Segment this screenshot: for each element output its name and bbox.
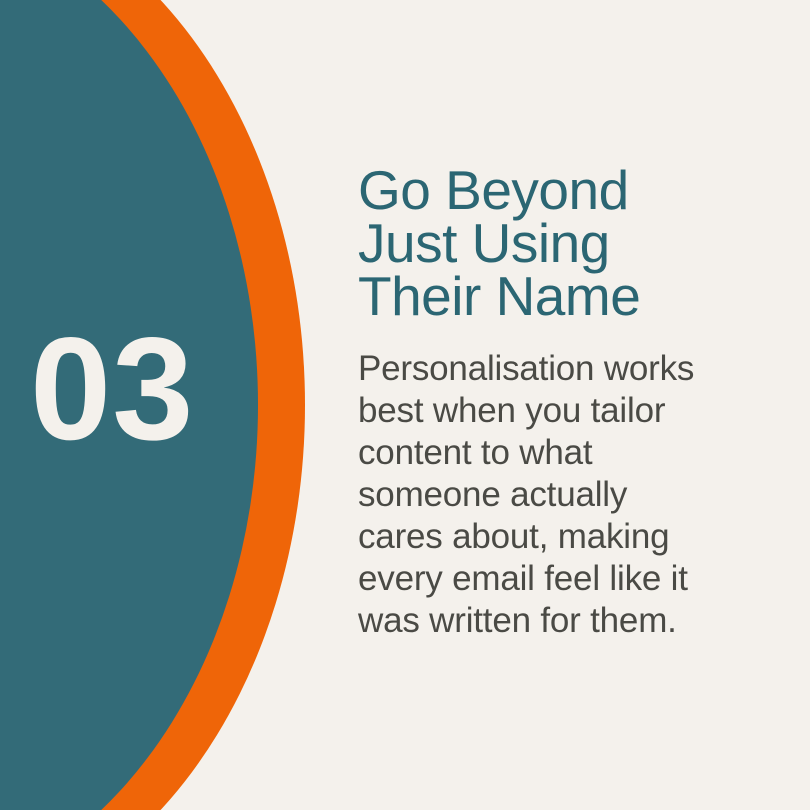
- body-line-3: content to what: [358, 432, 758, 474]
- body-line-4: someone actually: [358, 474, 758, 516]
- headline-line-2: Just Using: [358, 217, 778, 270]
- body-line-7: was written for them.: [358, 600, 758, 642]
- body-line-1: Personalisation works: [358, 348, 758, 390]
- text-content-column: Go Beyond Just Using Their Name Personal…: [358, 0, 778, 810]
- headline-line-1: Go Beyond: [358, 164, 778, 217]
- body-paragraph: Personalisation works best when you tail…: [358, 348, 758, 642]
- body-line-5: cares about, making: [358, 516, 758, 558]
- body-line-2: best when you tailor: [358, 390, 758, 432]
- step-number: 03: [30, 316, 194, 462]
- headline: Go Beyond Just Using Their Name: [358, 164, 778, 323]
- headline-line-3: Their Name: [358, 270, 778, 323]
- slide-canvas: 03 Go Beyond Just Using Their Name Perso…: [0, 0, 810, 810]
- body-line-6: every email feel like it: [358, 558, 758, 600]
